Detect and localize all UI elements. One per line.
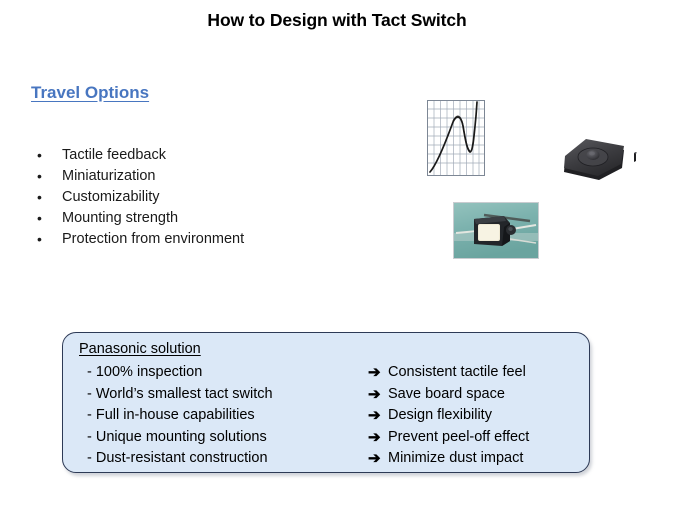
bullet-dot-icon: • <box>37 166 42 187</box>
table-row: - World’s smallest tact switch ➔ Save bo… <box>63 384 589 406</box>
solution-claim: - World’s smallest tact switch <box>87 384 273 406</box>
arrow-right-icon: ➔ <box>368 448 381 470</box>
bullet-dot-icon: • <box>37 145 42 166</box>
list-item: • Customizability <box>32 187 244 208</box>
list-item: • Tactile feedback <box>32 145 244 166</box>
section-heading-travel-options: Travel Options <box>31 83 149 103</box>
solution-benefit: Minimize dust impact <box>388 448 523 470</box>
tact-switch-3d-render <box>552 128 640 188</box>
arrow-right-icon: ➔ <box>368 362 381 384</box>
solution-box-title: Panasonic solution <box>79 341 201 357</box>
solution-benefit: Consistent tactile feel <box>388 362 526 384</box>
table-row: - Unique mounting solutions ➔ Prevent pe… <box>63 427 589 449</box>
bullet-dot-icon: • <box>37 229 42 250</box>
table-row: - Dust-resistant construction ➔ Minimize… <box>63 448 589 470</box>
solution-claim: - Full in-house capabilities <box>87 405 255 427</box>
arrow-right-icon: ➔ <box>368 405 381 427</box>
force-travel-curve-graph <box>427 100 485 176</box>
arrow-right-icon: ➔ <box>368 384 381 406</box>
solution-claim: - Unique mounting solutions <box>87 427 267 449</box>
page-title: How to Design with Tact Switch <box>0 10 674 31</box>
arrow-right-icon: ➔ <box>368 427 381 449</box>
solution-benefit: Save board space <box>388 384 505 406</box>
feature-bullet-list: • Tactile feedback • Miniaturization • C… <box>32 145 244 250</box>
list-item: • Miniaturization <box>32 166 244 187</box>
table-row: - 100% inspection ➔ Consistent tactile f… <box>63 362 589 384</box>
solution-claim: - 100% inspection <box>87 362 202 384</box>
table-row: - Full in-house capabilities ➔ Design fl… <box>63 405 589 427</box>
list-item-label: Tactile feedback <box>62 147 166 163</box>
solution-claim: - Dust-resistant construction <box>87 448 268 470</box>
solution-rows: - 100% inspection ➔ Consistent tactile f… <box>63 362 589 470</box>
list-item-label: Protection from environment <box>62 231 244 247</box>
list-item-label: Customizability <box>62 189 160 205</box>
solution-benefit: Prevent peel-off effect <box>388 427 529 449</box>
solution-benefit: Design flexibility <box>388 405 492 427</box>
list-item-label: Mounting strength <box>62 210 178 226</box>
bullet-dot-icon: • <box>37 187 42 208</box>
list-item: • Protection from environment <box>32 229 244 250</box>
list-item: • Mounting strength <box>32 208 244 229</box>
panasonic-solution-box: Panasonic solution - 100% inspection ➔ C… <box>62 332 590 473</box>
bullet-dot-icon: • <box>37 208 42 229</box>
slide-canvas: How to Design with Tact Switch Travel Op… <box>0 0 674 506</box>
smd-tact-switch-photo <box>453 202 539 259</box>
list-item-label: Miniaturization <box>62 168 156 184</box>
